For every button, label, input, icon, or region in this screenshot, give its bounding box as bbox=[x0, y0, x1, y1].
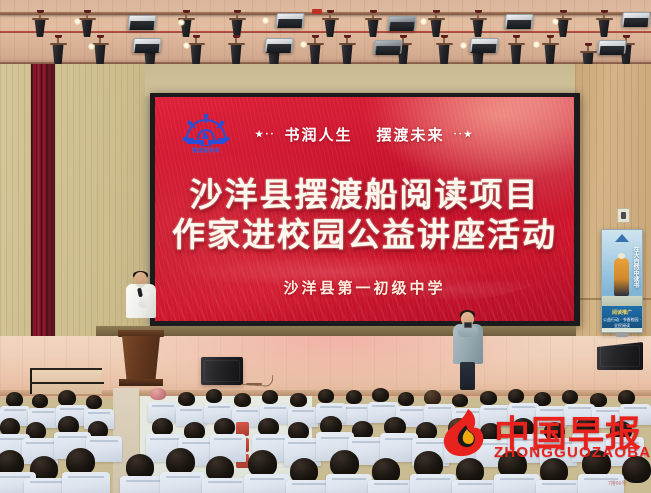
screen-title-line-1: 沙洋县摆渡船阅读项目 bbox=[155, 175, 574, 215]
seat-back bbox=[452, 480, 498, 493]
audience-head bbox=[346, 390, 362, 404]
seat-number-label: 04号 bbox=[467, 445, 478, 452]
stage-monitor-speaker bbox=[201, 357, 243, 385]
tagline-part-2: 摆渡未来 bbox=[377, 124, 445, 145]
screen-subtitle: 沙洋县第一初级中学 bbox=[155, 277, 574, 298]
lighting-truss-cable bbox=[0, 31, 651, 33]
banner-stand-base bbox=[616, 332, 628, 337]
seat-back bbox=[202, 478, 248, 493]
tagline-part-1: 书润人生 bbox=[284, 124, 352, 145]
banner-ground bbox=[602, 296, 642, 306]
seat-number-label: 7排06号 bbox=[608, 480, 626, 487]
banner-caption-band: 阅读推广 公益行动 · 书香校园 · 全民阅读 bbox=[602, 306, 642, 328]
screen-title-line-2: 作家进校园公益讲座活动 bbox=[155, 215, 574, 255]
audience-head bbox=[318, 389, 334, 403]
audience-head bbox=[248, 450, 277, 477]
audience-head bbox=[262, 390, 278, 404]
seat-back bbox=[494, 474, 540, 493]
audience-head bbox=[32, 394, 48, 408]
audience-head bbox=[86, 395, 102, 409]
ceiling-indicator-icon bbox=[312, 9, 322, 14]
seat-back bbox=[326, 474, 372, 493]
ceiling-downlight-icon bbox=[88, 43, 95, 50]
seat-back bbox=[62, 472, 110, 493]
audience-head bbox=[166, 448, 195, 475]
lighting-truss-front bbox=[0, 12, 651, 15]
auditorium-scene: 摆渡船阅读 ★·· 书润人生 摆渡未来 ··★ 沙洋县摆渡船阅读项目 作家进校园… bbox=[0, 0, 651, 493]
star-decor-right-icon: ··★ bbox=[454, 130, 474, 140]
led-screen-bezel: 摆渡船阅读 ★·· 书润人生 摆渡未来 ··★ 沙洋县摆渡船阅读项目 作家进校园… bbox=[150, 93, 580, 326]
photographer-person bbox=[452, 312, 484, 390]
ceiling-downlight-icon bbox=[262, 17, 269, 24]
seat-back bbox=[410, 474, 456, 493]
banner-band-subtitle: 公益行动 · 书香校园 · 全民阅读 bbox=[602, 317, 642, 329]
audience-head bbox=[6, 392, 23, 407]
ceiling-downlight-icon bbox=[178, 19, 185, 26]
ceiling-downlight-icon bbox=[420, 18, 427, 25]
seat-back bbox=[160, 472, 206, 493]
seat-back bbox=[480, 405, 511, 426]
audience-head bbox=[398, 392, 414, 406]
audience-head bbox=[562, 390, 578, 404]
stage-back-riser bbox=[96, 326, 576, 336]
audience-head bbox=[618, 390, 635, 405]
screen-title-block: 沙洋县摆渡船阅读项目 作家进校园公益讲座活动 bbox=[155, 175, 574, 255]
speaker-at-podium bbox=[124, 272, 158, 334]
back-wall-upper bbox=[96, 64, 576, 96]
roll-up-banner: 在大自然中读书 阅读推广 公益行动 · 书香校园 · 全民阅读 bbox=[601, 229, 643, 333]
logo-caption: 摆渡船阅读 bbox=[177, 147, 235, 154]
ceiling-downlight-icon bbox=[533, 41, 540, 48]
audience-head bbox=[582, 450, 611, 477]
led-screen: 摆渡船阅读 ★·· 书润人生 摆渡未来 ··★ 沙洋县摆渡船阅读项目 作家进校园… bbox=[155, 97, 574, 321]
ceiling-downlight-icon bbox=[74, 18, 81, 25]
banner-logo-icon bbox=[615, 234, 629, 242]
screen-tagline: ★·· 书润人生 摆渡未来 ··★ bbox=[155, 124, 574, 145]
banner-band-title: 阅读推广 bbox=[602, 309, 642, 316]
seat-back bbox=[368, 480, 414, 493]
ceiling-downlight-icon bbox=[183, 42, 190, 49]
wooden-lectern bbox=[118, 330, 164, 388]
audience-head bbox=[58, 390, 76, 406]
ceiling-downlight-icon bbox=[552, 18, 559, 25]
audience-head bbox=[234, 393, 251, 407]
star-decor-left-icon: ★·· bbox=[255, 130, 275, 140]
ceiling-downlight-icon bbox=[300, 41, 307, 48]
audience-head bbox=[424, 390, 441, 405]
audience-head-with-cap bbox=[150, 388, 166, 400]
audience-area: 04号 7排06号 bbox=[0, 388, 651, 493]
audience-head bbox=[206, 389, 222, 403]
seat-back bbox=[536, 480, 582, 493]
audience-head bbox=[372, 388, 389, 402]
audience-head bbox=[480, 391, 497, 405]
smartphone-camera-icon bbox=[464, 322, 472, 328]
audio-cable-connector bbox=[246, 383, 262, 385]
audience-head bbox=[508, 389, 524, 403]
audience-head bbox=[66, 448, 95, 475]
banner-figure bbox=[614, 258, 629, 296]
ceiling-downlight-icon bbox=[460, 42, 467, 49]
audience-head bbox=[330, 450, 359, 477]
audience-head bbox=[622, 456, 651, 483]
wall-service-panel bbox=[617, 208, 630, 223]
audience-head bbox=[290, 393, 307, 407]
seat-back bbox=[244, 474, 290, 493]
audience-head bbox=[178, 392, 195, 406]
